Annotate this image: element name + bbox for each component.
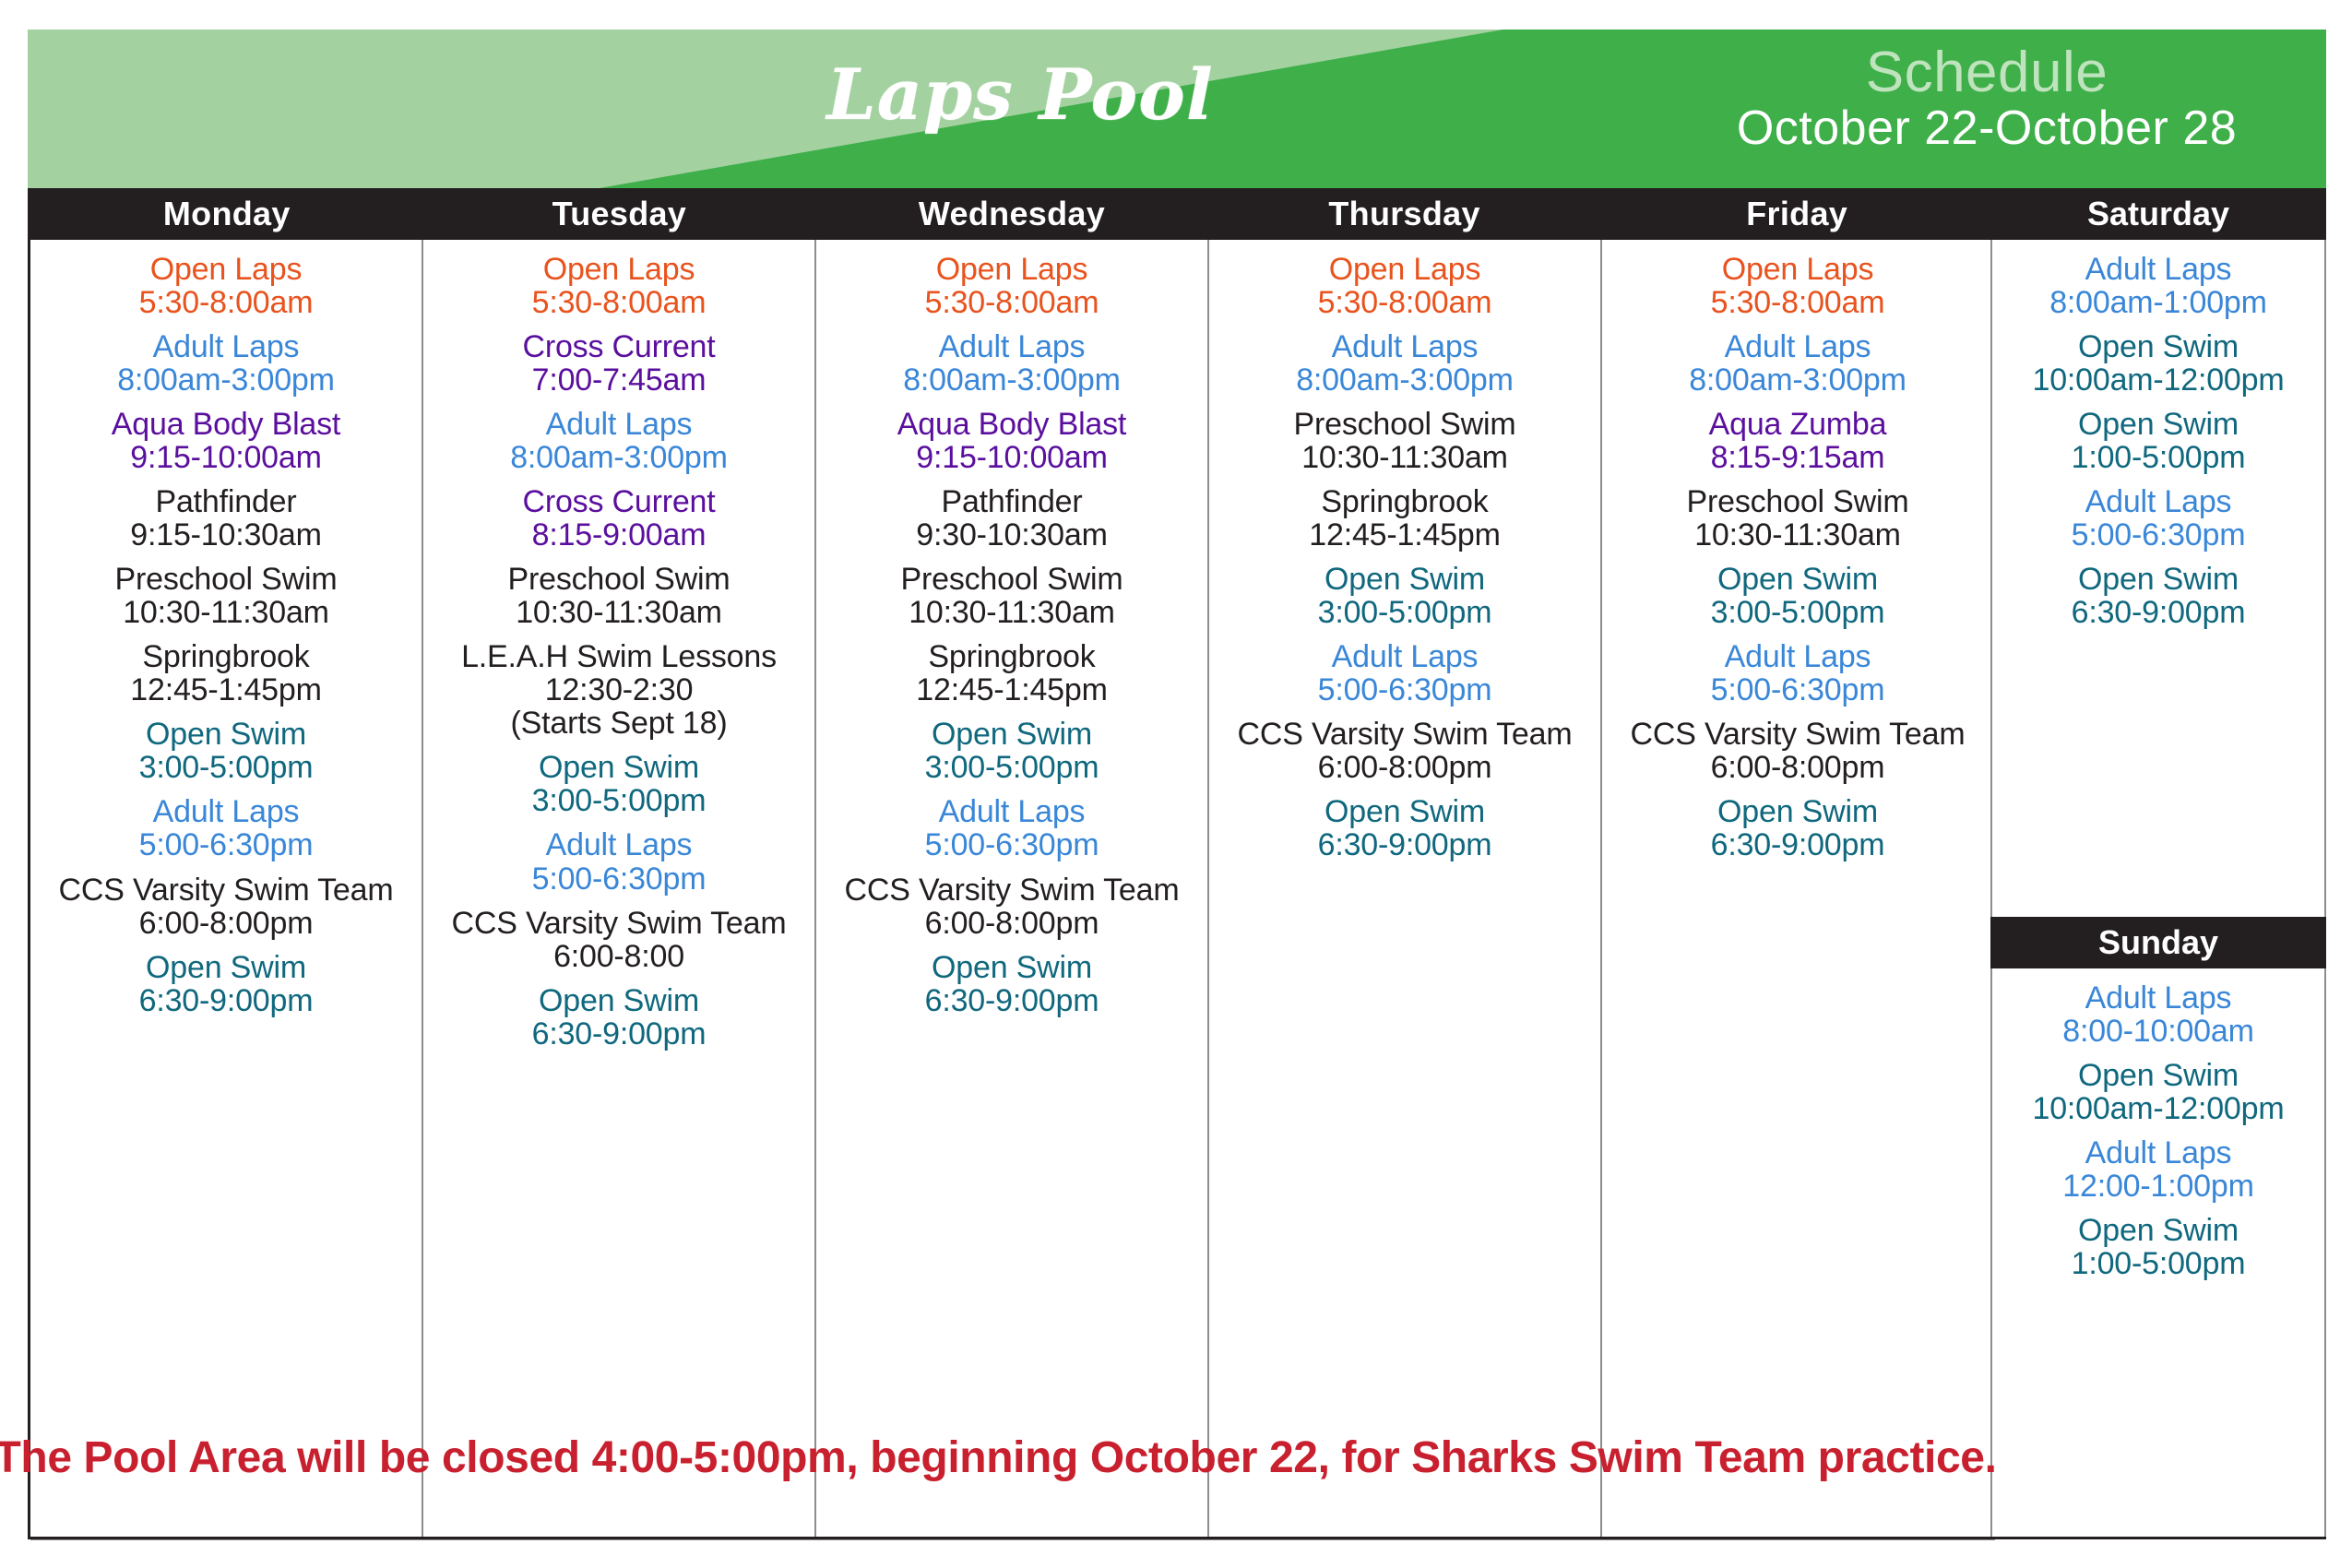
schedule-entry: Open Swim6:30-9:00pm — [1218, 795, 1591, 861]
entry-name: Aqua Zumba — [1611, 408, 1984, 441]
entry-time: 5:00-6:30pm — [40, 828, 412, 861]
entry-time: 10:30-11:30am — [1611, 518, 1984, 552]
entry-time: 8:15-9:00am — [433, 518, 805, 552]
entry-name: Preschool Swim — [1611, 485, 1984, 518]
entry-time: 6:30-9:00pm — [1218, 828, 1591, 861]
entry-name: CCS Varsity Swim Team — [433, 907, 805, 940]
schedule-label: Schedule — [1692, 42, 2282, 102]
entry-time: 9:30-10:30am — [826, 518, 1198, 552]
entry-time: 9:15-10:00am — [826, 441, 1198, 474]
entry-time: 1:00-5:00pm — [1998, 441, 2319, 474]
entry-time: 3:00-5:00pm — [433, 784, 805, 817]
day-header-tuesday: Tuesday — [423, 188, 816, 240]
schedule-entry: CCS Varsity Swim Team6:00-8:00pm — [1218, 718, 1591, 784]
day-column-monday: Open Laps5:30-8:00amAdult Laps8:00am-3:0… — [30, 240, 423, 1538]
entry-time: 6:00-8:00pm — [826, 907, 1198, 940]
schedule-entry: Open Swim3:00-5:00pm — [1611, 563, 1984, 629]
entry-name: Open Swim — [1998, 563, 2319, 596]
schedule-entry: Aqua Zumba8:15-9:15am — [1611, 408, 1984, 474]
entry-name: Adult Laps — [1998, 253, 2319, 286]
schedule-entry: Preschool Swim10:30-11:30am — [1611, 485, 1984, 552]
schedule-entry: Springbrook12:45-1:45pm — [40, 640, 412, 707]
entry-time: 8:15-9:15am — [1611, 441, 1984, 474]
schedule-entry: Open Swim6:30-9:00pm — [1611, 795, 1984, 861]
entry-name: Open Swim — [1611, 563, 1984, 596]
entry-time: 10:30-11:30am — [1218, 441, 1591, 474]
weekday-header-row: MondayTuesdayWednesdayThursdayFriday — [30, 188, 1993, 240]
entry-time: 10:30-11:30am — [826, 596, 1198, 629]
schedule-grid: MondayTuesdayWednesdayThursdayFriday Ope… — [28, 188, 2326, 1538]
schedule-entry: Preschool Swim10:30-11:30am — [40, 563, 412, 629]
day-column-sunday: Adult Laps8:00-10:00amOpen Swim10:00am-1… — [1990, 968, 2326, 1538]
schedule-entry: Aqua Body Blast9:15-10:00am — [826, 408, 1198, 474]
entry-time: 8:00am-3:00pm — [826, 363, 1198, 397]
entry-name: Open Laps — [433, 253, 805, 286]
entry-name: CCS Varsity Swim Team — [1218, 718, 1591, 751]
entry-name: Open Laps — [40, 253, 412, 286]
entry-name: Cross Current — [433, 330, 805, 363]
schedule-entry: Open Swim10:00am-12:00pm — [1998, 1059, 2319, 1125]
schedule-entry: Adult Laps8:00am-3:00pm — [433, 408, 805, 474]
day-column-wednesday: Open Laps5:30-8:00amAdult Laps8:00am-3:0… — [816, 240, 1209, 1538]
entry-name: Aqua Body Blast — [40, 408, 412, 441]
entry-name: Open Laps — [1218, 253, 1591, 286]
schedule-entry: Open Swim6:30-9:00pm — [40, 951, 412, 1017]
day-column-tuesday: Open Laps5:30-8:00amCross Current7:00-7:… — [423, 240, 816, 1538]
schedule-entry: Open Laps5:30-8:00am — [433, 253, 805, 319]
entry-name: Cross Current — [433, 485, 805, 518]
entry-name: Preschool Swim — [826, 563, 1198, 596]
entry-time: 5:00-6:30pm — [1998, 518, 2319, 552]
entry-name: Open Swim — [826, 951, 1198, 984]
entry-time: 12:30-2:30 — [433, 673, 805, 707]
schedule-entry: Adult Laps8:00am-3:00pm — [40, 330, 412, 397]
entry-name: Open Swim — [40, 718, 412, 751]
schedule-entry: Open Swim10:00am-12:00pm — [1998, 330, 2319, 397]
schedule-entry: Adult Laps8:00am-3:00pm — [1611, 330, 1984, 397]
entry-time: 6:30-9:00pm — [826, 984, 1198, 1017]
entry-name: Adult Laps — [1218, 640, 1591, 673]
entry-time: 5:30-8:00am — [1218, 286, 1591, 319]
schedule-entry: Open Swim6:30-9:00pm — [826, 951, 1198, 1017]
entry-time: 5:30-8:00am — [40, 286, 412, 319]
schedule-entry: L.E.A.H Swim Lessons12:30-2:30(Starts Se… — [433, 640, 805, 740]
entry-name: Open Swim — [433, 751, 805, 784]
entry-name: Adult Laps — [433, 828, 805, 861]
entry-time: 6:00-8:00pm — [40, 907, 412, 940]
entry-time: 5:00-6:30pm — [1218, 673, 1591, 707]
entry-time: 10:30-11:30am — [433, 596, 805, 629]
entry-time: 8:00am-1:00pm — [1998, 286, 2319, 319]
entry-time: 3:00-5:00pm — [40, 751, 412, 784]
entry-time: 1:00-5:00pm — [1998, 1247, 2319, 1280]
day-header-monday: Monday — [30, 188, 423, 240]
entry-time: 9:15-10:00am — [40, 441, 412, 474]
entry-time: 5:30-8:00am — [1611, 286, 1984, 319]
schedule-entry: Adult Laps5:00-6:30pm — [1998, 485, 2319, 552]
pool-closure-notice-text: The Pool Area will be closed 4:00-5:00pm… — [0, 1432, 1997, 1483]
entry-name: Adult Laps — [826, 330, 1198, 363]
entry-time: 8:00am-3:00pm — [40, 363, 412, 397]
schedule-entry: Adult Laps5:00-6:30pm — [826, 795, 1198, 861]
weekday-columns: Open Laps5:30-8:00amAdult Laps8:00am-3:0… — [30, 240, 1995, 1540]
schedule-entry: Open Swim3:00-5:00pm — [826, 718, 1198, 784]
schedule-entry: CCS Varsity Swim Team6:00-8:00pm — [40, 873, 412, 940]
entry-name: Adult Laps — [40, 795, 412, 828]
entry-name: Adult Laps — [1611, 640, 1984, 673]
day-column-thursday: Open Laps5:30-8:00amAdult Laps8:00am-3:0… — [1209, 240, 1602, 1538]
weekday-block: MondayTuesdayWednesdayThursdayFriday Ope… — [28, 188, 1993, 1538]
entry-time: 8:00am-3:00pm — [1218, 363, 1591, 397]
pool-closure-notice: The Pool Area will be closed 4:00-5:00pm… — [28, 1407, 1963, 1508]
schedule-entry: Open Laps5:30-8:00am — [826, 253, 1198, 319]
entry-time: 3:00-5:00pm — [1611, 596, 1984, 629]
entry-name: Open Swim — [433, 984, 805, 1017]
entry-name: Open Swim — [1218, 795, 1591, 828]
schedule-entry: Open Swim1:00-5:00pm — [1998, 408, 2319, 474]
weekend-block: Saturday Adult Laps8:00am-1:00pmOpen Swi… — [1990, 188, 2326, 1538]
entry-time: 7:00-7:45am — [433, 363, 805, 397]
entry-time: 9:15-10:30am — [40, 518, 412, 552]
day-header-friday: Friday — [1600, 188, 1993, 240]
entry-time: 5:30-8:00am — [826, 286, 1198, 319]
schedule-entry: CCS Varsity Swim Team6:00-8:00pm — [826, 873, 1198, 940]
entry-time: 3:00-5:00pm — [1218, 596, 1591, 629]
entry-name: Preschool Swim — [433, 563, 805, 596]
schedule-entry: Open Laps5:30-8:00am — [40, 253, 412, 319]
day-column-friday: Open Laps5:30-8:00amAdult Laps8:00am-3:0… — [1602, 240, 1993, 1538]
entry-name: Open Laps — [1611, 253, 1984, 286]
schedule-entry: Springbrook12:45-1:45pm — [1218, 485, 1591, 552]
schedule-entry: Open Laps5:30-8:00am — [1218, 253, 1591, 319]
entry-name: Preschool Swim — [1218, 408, 1591, 441]
schedule-entry: Adult Laps5:00-6:30pm — [40, 795, 412, 861]
entry-name: Open Swim — [1998, 330, 2319, 363]
entry-name: Open Swim — [1998, 1214, 2319, 1247]
pool-schedule-page: Laps Pool Schedule October 22-October 28… — [0, 0, 2352, 1568]
schedule-entry: Adult Laps5:00-6:30pm — [433, 828, 805, 895]
entry-name: Pathfinder — [40, 485, 412, 518]
schedule-entry: Adult Laps8:00-10:00am — [1998, 981, 2319, 1048]
entry-name: Adult Laps — [826, 795, 1198, 828]
schedule-entry: Pathfinder9:30-10:30am — [826, 485, 1198, 552]
entry-time: 6:30-9:00pm — [1998, 596, 2319, 629]
entry-name: Adult Laps — [40, 330, 412, 363]
schedule-entry: Preschool Swim10:30-11:30am — [1218, 408, 1591, 474]
day-header-wednesday: Wednesday — [815, 188, 1208, 240]
schedule-entry: CCS Varsity Swim Team6:00-8:00 — [433, 907, 805, 973]
entry-name: Open Swim — [1998, 408, 2319, 441]
header-banner: Laps Pool Schedule October 22-October 28 — [28, 30, 2326, 188]
entry-time: 6:30-9:00pm — [40, 984, 412, 1017]
entry-name: Springbrook — [40, 640, 412, 673]
schedule-entry: Aqua Body Blast9:15-10:00am — [40, 408, 412, 474]
entry-time: 12:45-1:45pm — [40, 673, 412, 707]
entry-time: 8:00-10:00am — [1998, 1015, 2319, 1048]
day-header-thursday: Thursday — [1208, 188, 1601, 240]
entry-time: 12:45-1:45pm — [826, 673, 1198, 707]
schedule-entry: Open Swim3:00-5:00pm — [40, 718, 412, 784]
schedule-entry: Adult Laps8:00am-3:00pm — [1218, 330, 1591, 397]
entry-name: CCS Varsity Swim Team — [826, 873, 1198, 907]
schedule-entry: Adult Laps8:00am-1:00pm — [1998, 253, 2319, 319]
entry-name: CCS Varsity Swim Team — [1611, 718, 1984, 751]
schedule-entry: Open Swim3:00-5:00pm — [433, 751, 805, 817]
schedule-entry: Pathfinder9:15-10:30am — [40, 485, 412, 552]
day-header-sunday: Sunday — [1990, 917, 2326, 968]
entry-time: 6:00-8:00pm — [1611, 751, 1984, 784]
entry-time: 5:30-8:00am — [433, 286, 805, 319]
schedule-entry: Preschool Swim10:30-11:30am — [826, 563, 1198, 629]
entry-time: 8:00am-3:00pm — [1611, 363, 1984, 397]
schedule-entry: Springbrook12:45-1:45pm — [826, 640, 1198, 707]
entry-time: 6:30-9:00pm — [433, 1017, 805, 1051]
entry-name: Adult Laps — [1998, 981, 2319, 1015]
entry-time: 5:00-6:30pm — [433, 862, 805, 896]
entry-name: Open Swim — [1218, 563, 1591, 596]
entry-time: 8:00am-3:00pm — [433, 441, 805, 474]
entry-name: Springbrook — [826, 640, 1198, 673]
day-header-saturday: Saturday — [1990, 188, 2326, 240]
entry-name: Adult Laps — [433, 408, 805, 441]
entry-time: 5:00-6:30pm — [826, 828, 1198, 861]
schedule-entry: Adult Laps12:00-1:00pm — [1998, 1136, 2319, 1203]
entry-name: Open Laps — [826, 253, 1198, 286]
entry-time: 10:00am-12:00pm — [1998, 363, 2319, 397]
entry-name: Adult Laps — [1998, 485, 2319, 518]
schedule-date-range: October 22-October 28 — [1692, 102, 2282, 155]
entry-time: 6:30-9:00pm — [1611, 828, 1984, 861]
entry-name: Pathfinder — [826, 485, 1198, 518]
entry-note: (Starts Sept 18) — [433, 707, 805, 740]
entry-time: 5:00-6:30pm — [1611, 673, 1984, 707]
entry-time: 3:00-5:00pm — [826, 751, 1198, 784]
schedule-entry: Open Swim6:30-9:00pm — [1998, 563, 2319, 629]
entry-time: 10:00am-12:00pm — [1998, 1092, 2319, 1125]
schedule-entry: Preschool Swim10:30-11:30am — [433, 563, 805, 629]
schedule-entry: Open Swim6:30-9:00pm — [433, 984, 805, 1051]
schedule-entry: Open Swim1:00-5:00pm — [1998, 1214, 2319, 1280]
schedule-entry: Adult Laps5:00-6:30pm — [1218, 640, 1591, 707]
entry-name: Aqua Body Blast — [826, 408, 1198, 441]
schedule-entry: Adult Laps8:00am-3:00pm — [826, 330, 1198, 397]
entry-name: Adult Laps — [1218, 330, 1591, 363]
entry-time: 6:00-8:00 — [433, 940, 805, 973]
entry-name: Preschool Swim — [40, 563, 412, 596]
schedule-entry: Cross Current8:15-9:00am — [433, 485, 805, 552]
entry-name: Open Swim — [826, 718, 1198, 751]
entry-name: CCS Varsity Swim Team — [40, 873, 412, 907]
day-column-saturday: Adult Laps8:00am-1:00pmOpen Swim10:00am-… — [1990, 240, 2326, 917]
entry-time: 12:00-1:00pm — [1998, 1170, 2319, 1203]
bottom-rule — [28, 1537, 2326, 1539]
schedule-entry: Open Laps5:30-8:00am — [1611, 253, 1984, 319]
schedule-entry: Open Swim3:00-5:00pm — [1218, 563, 1591, 629]
entry-name: Open Swim — [40, 951, 412, 984]
entry-name: L.E.A.H Swim Lessons — [433, 640, 805, 673]
entry-time: 6:00-8:00pm — [1218, 751, 1591, 784]
entry-name: Adult Laps — [1998, 1136, 2319, 1170]
schedule-entry: Cross Current7:00-7:45am — [433, 330, 805, 397]
entry-time: 12:45-1:45pm — [1218, 518, 1591, 552]
entry-time: 10:30-11:30am — [40, 596, 412, 629]
schedule-period-block: Schedule October 22-October 28 — [1692, 42, 2282, 155]
entry-name: Open Swim — [1611, 795, 1984, 828]
schedule-entry: CCS Varsity Swim Team6:00-8:00pm — [1611, 718, 1984, 784]
entry-name: Adult Laps — [1611, 330, 1984, 363]
entry-name: Springbrook — [1218, 485, 1591, 518]
entry-name: Open Swim — [1998, 1059, 2319, 1092]
schedule-entry: Adult Laps5:00-6:30pm — [1611, 640, 1984, 707]
